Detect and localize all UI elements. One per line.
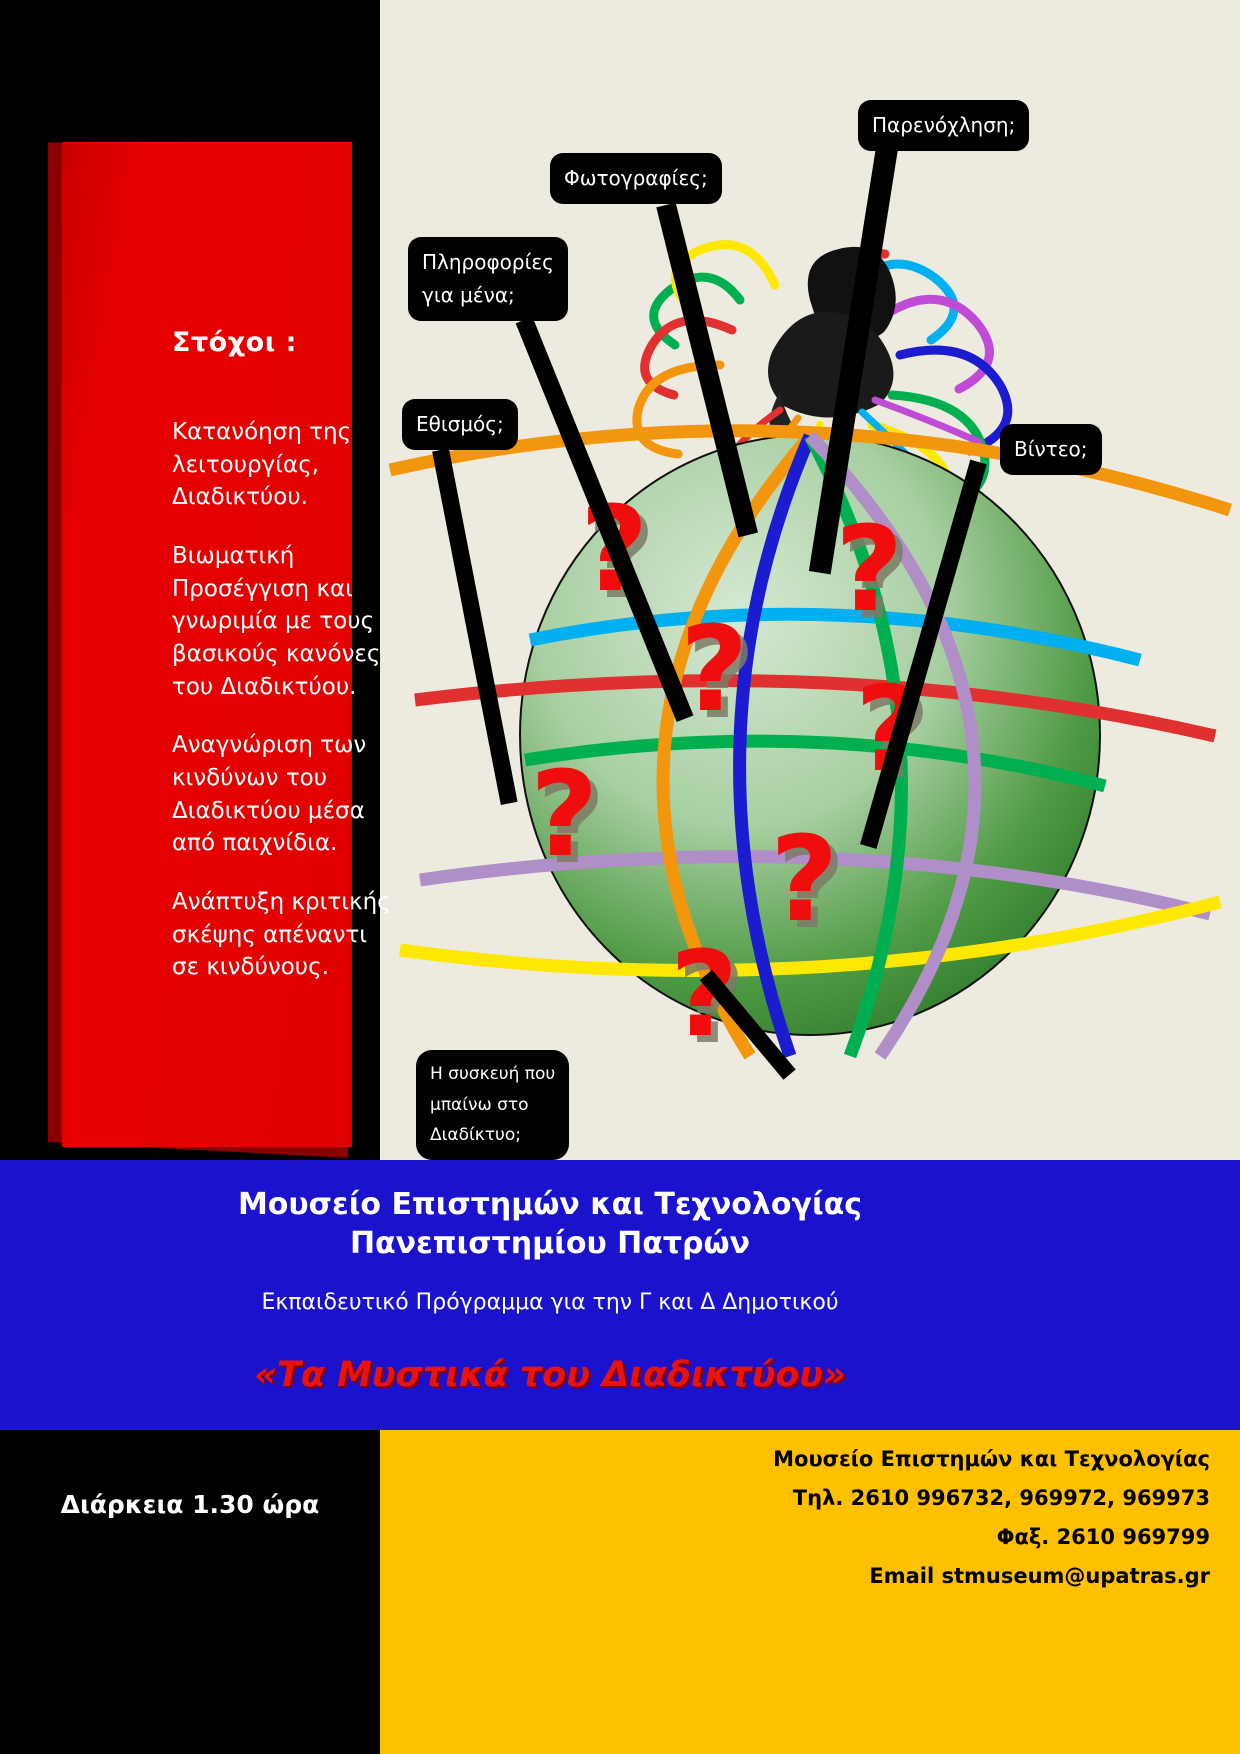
contact-line-email[interactable]: Email stmuseum@upatras.gr: [510, 1557, 1210, 1596]
contact-line: Τηλ. 2610 996732, 969972, 969973: [510, 1479, 1210, 1518]
contact-details: Μουσείο Επιστημών και Τεχνολογίας Τηλ. 2…: [510, 1440, 1210, 1595]
contact-line: Φαξ. 2610 969799: [510, 1518, 1210, 1557]
bubble-plirofories[interactable]: Πληροφορίες για μένα;: [408, 237, 568, 321]
bubble-ethismos[interactable]: Εθισμός;: [402, 399, 518, 450]
svg-text:?: ?: [770, 810, 838, 948]
poster-canvas: Στόχοι : Κατανόηση της λειτουργίας, Διαδ…: [0, 0, 1240, 1754]
objectives-title: Στόχοι :: [172, 327, 392, 358]
svg-text:?: ?: [835, 500, 903, 638]
contact-line: Μουσείο Επιστημών και Τεχνολογίας: [510, 1440, 1210, 1479]
program-description: Εκπαιδευτικό Πρόγραμμα για την Γ και Δ Δ…: [0, 1290, 1100, 1315]
globe-illustration: ? ? ? ? ? ? ? Παρενόχληση; Φωτογραφίες; …: [380, 0, 1240, 1160]
svg-text:?: ?: [530, 745, 598, 883]
globe-svg: ? ? ? ? ? ? ?: [380, 0, 1240, 1160]
objective-item: Ανάπτυξη κριτικής σκέψης απέναντι σε κιν…: [172, 886, 392, 984]
duration-label: Διάρκεια 1.30 ώρα: [0, 1490, 380, 1519]
objectives-panel: Στόχοι : Κατανόηση της λειτουργίας, Διαδ…: [62, 142, 352, 1147]
museum-name: Μουσείο Επιστημών και Τεχνολογίας Πανεπι…: [0, 1185, 1100, 1263]
bubble-syskevi[interactable]: Η συσκευή που μπαίνω στο Διαδίκτυο;: [416, 1050, 569, 1160]
bubble-fotografies[interactable]: Φωτογραφίες;: [550, 153, 722, 204]
svg-text:?: ?: [680, 600, 748, 738]
bubble-parenochlisi[interactable]: Παρενόχληση;: [858, 100, 1029, 151]
museum-name-line1: Μουσείο Επιστημών και Τεχνολογίας: [238, 1187, 862, 1222]
blue-footer-band: Μουσείο Επιστημών και Τεχνολογίας Πανεπι…: [0, 1160, 1240, 1430]
museum-name-line2: Πανεπιστημίου Πατρών: [350, 1226, 750, 1261]
bubble-vinteo[interactable]: Βίντεο;: [1000, 424, 1102, 475]
objective-item: Βιωματική Προσέγγιση και γνωριμία με του…: [172, 540, 392, 703]
objective-item: Αναγνώριση των κινδύνων του Διαδικτύου μ…: [172, 729, 392, 860]
objective-item: Κατανόηση της λειτουργίας, Διαδικτύου.: [172, 416, 392, 514]
duration-background: [0, 1430, 380, 1754]
program-title: «Τα Μυστικά του Διαδικτύου»: [0, 1355, 1100, 1395]
